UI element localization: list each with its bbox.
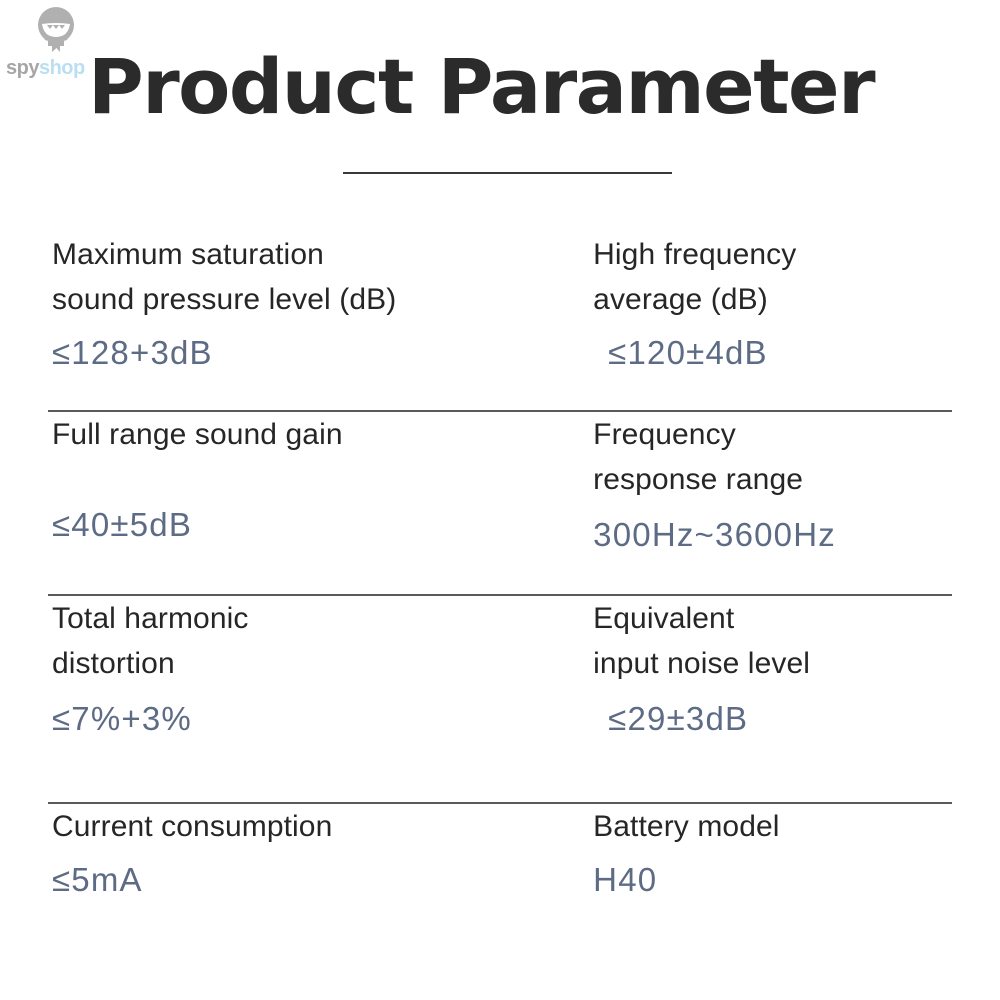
page-title: Product Parameter: [88, 44, 928, 130]
product-parameter-page: spyshop Product Parameter Maximum satura…: [0, 0, 1000, 1000]
spec-label: Battery model: [593, 804, 952, 849]
logo-word-spy: spy: [6, 57, 39, 79]
spec-label: Equivalent input noise level: [593, 596, 952, 686]
spec-value: ≤29±3dB: [593, 696, 952, 742]
table-row: Current consumption ≤5mA Battery model H…: [0, 804, 1000, 944]
spec-label: Current consumption: [52, 804, 575, 849]
spec-value: ≤120±4dB: [593, 330, 952, 376]
spec-cell-right: Equivalent input noise level ≤29±3dB: [593, 596, 952, 742]
table-row: Full range sound gain ≤40±5dB Frequency …: [0, 412, 1000, 596]
spec-cell-left: Maximum saturation sound pressure level …: [52, 232, 593, 376]
spec-value: H40: [593, 857, 952, 903]
spec-label: Total harmonic distortion: [52, 596, 575, 686]
spec-cell-left: Full range sound gain ≤40±5dB: [52, 412, 593, 558]
spec-label: Full range sound gain: [52, 412, 575, 457]
spy-mascot-icon: [28, 4, 84, 56]
spec-label: High frequency average (dB): [593, 232, 952, 322]
table-row: Maximum saturation sound pressure level …: [0, 232, 1000, 412]
spyshop-logo: spyshop: [6, 4, 106, 86]
logo-word-shop: shop: [39, 57, 85, 79]
spec-value: ≤40±5dB: [52, 502, 575, 548]
spec-label: Maximum saturation sound pressure level …: [52, 232, 575, 322]
spec-cell-right: High frequency average (dB) ≤120±4dB: [593, 232, 952, 376]
spec-cell-left: Total harmonic distortion ≤7%+3%: [52, 596, 593, 742]
spyshop-wordmark: spyshop: [6, 56, 106, 80]
spec-cell-right: Frequency response range 300Hz~3600Hz: [593, 412, 952, 558]
spec-value: ≤5mA: [52, 857, 575, 903]
spec-value: ≤7%+3%: [52, 696, 575, 742]
spec-value: ≤128+3dB: [52, 330, 575, 376]
spec-cell-left: Current consumption ≤5mA: [52, 804, 593, 903]
specification-table: Maximum saturation sound pressure level …: [0, 232, 1000, 944]
title-underline-divider: [343, 172, 672, 174]
spec-label: Frequency response range: [593, 412, 952, 502]
spec-cell-right: Battery model H40: [593, 804, 952, 903]
spec-value: 300Hz~3600Hz: [593, 512, 952, 558]
table-row: Total harmonic distortion ≤7%+3% Equival…: [0, 596, 1000, 804]
